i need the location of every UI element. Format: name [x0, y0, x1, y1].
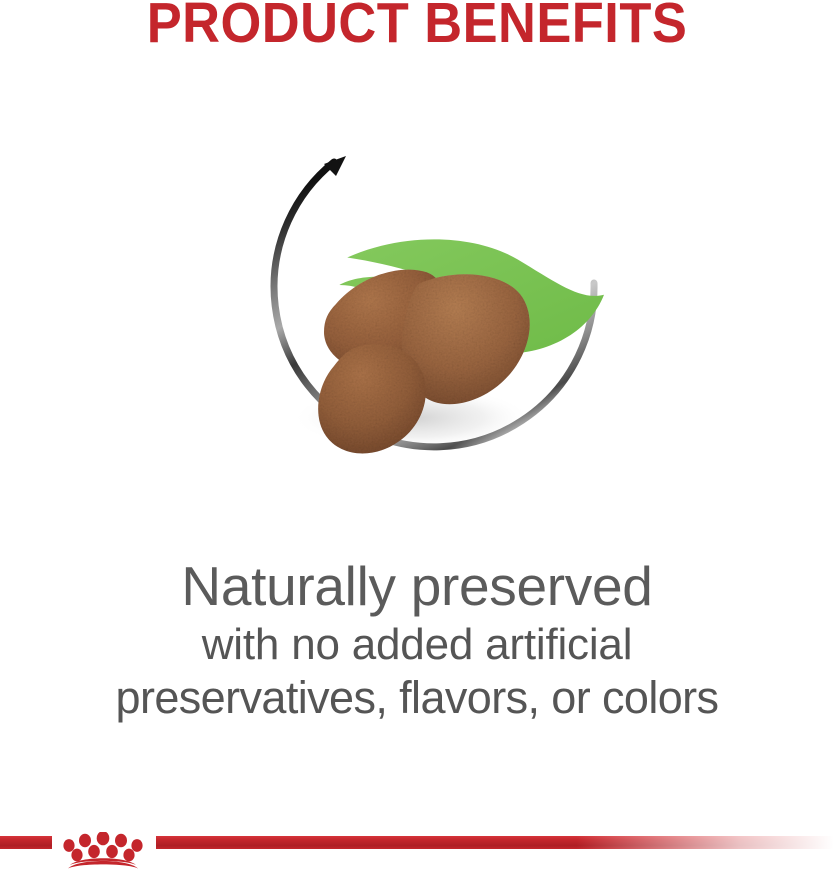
footer-rule-right	[156, 834, 834, 851]
royal-canin-crown-logo	[63, 832, 142, 869]
footer-rule-left	[0, 836, 52, 849]
brand-footer-rule	[0, 832, 834, 869]
benefit-subline-1: with no added artificial	[0, 618, 834, 672]
benefit-headline: Naturally preserved	[0, 556, 834, 618]
benefit-subline-2: preservatives, flavors, or colors	[0, 671, 834, 726]
benefit-copy: Naturally preserved with no added artifi…	[0, 556, 834, 726]
page-title: PRODUCT BENEFITS	[33, 0, 800, 54]
natural-kibble-icon	[214, 118, 614, 518]
